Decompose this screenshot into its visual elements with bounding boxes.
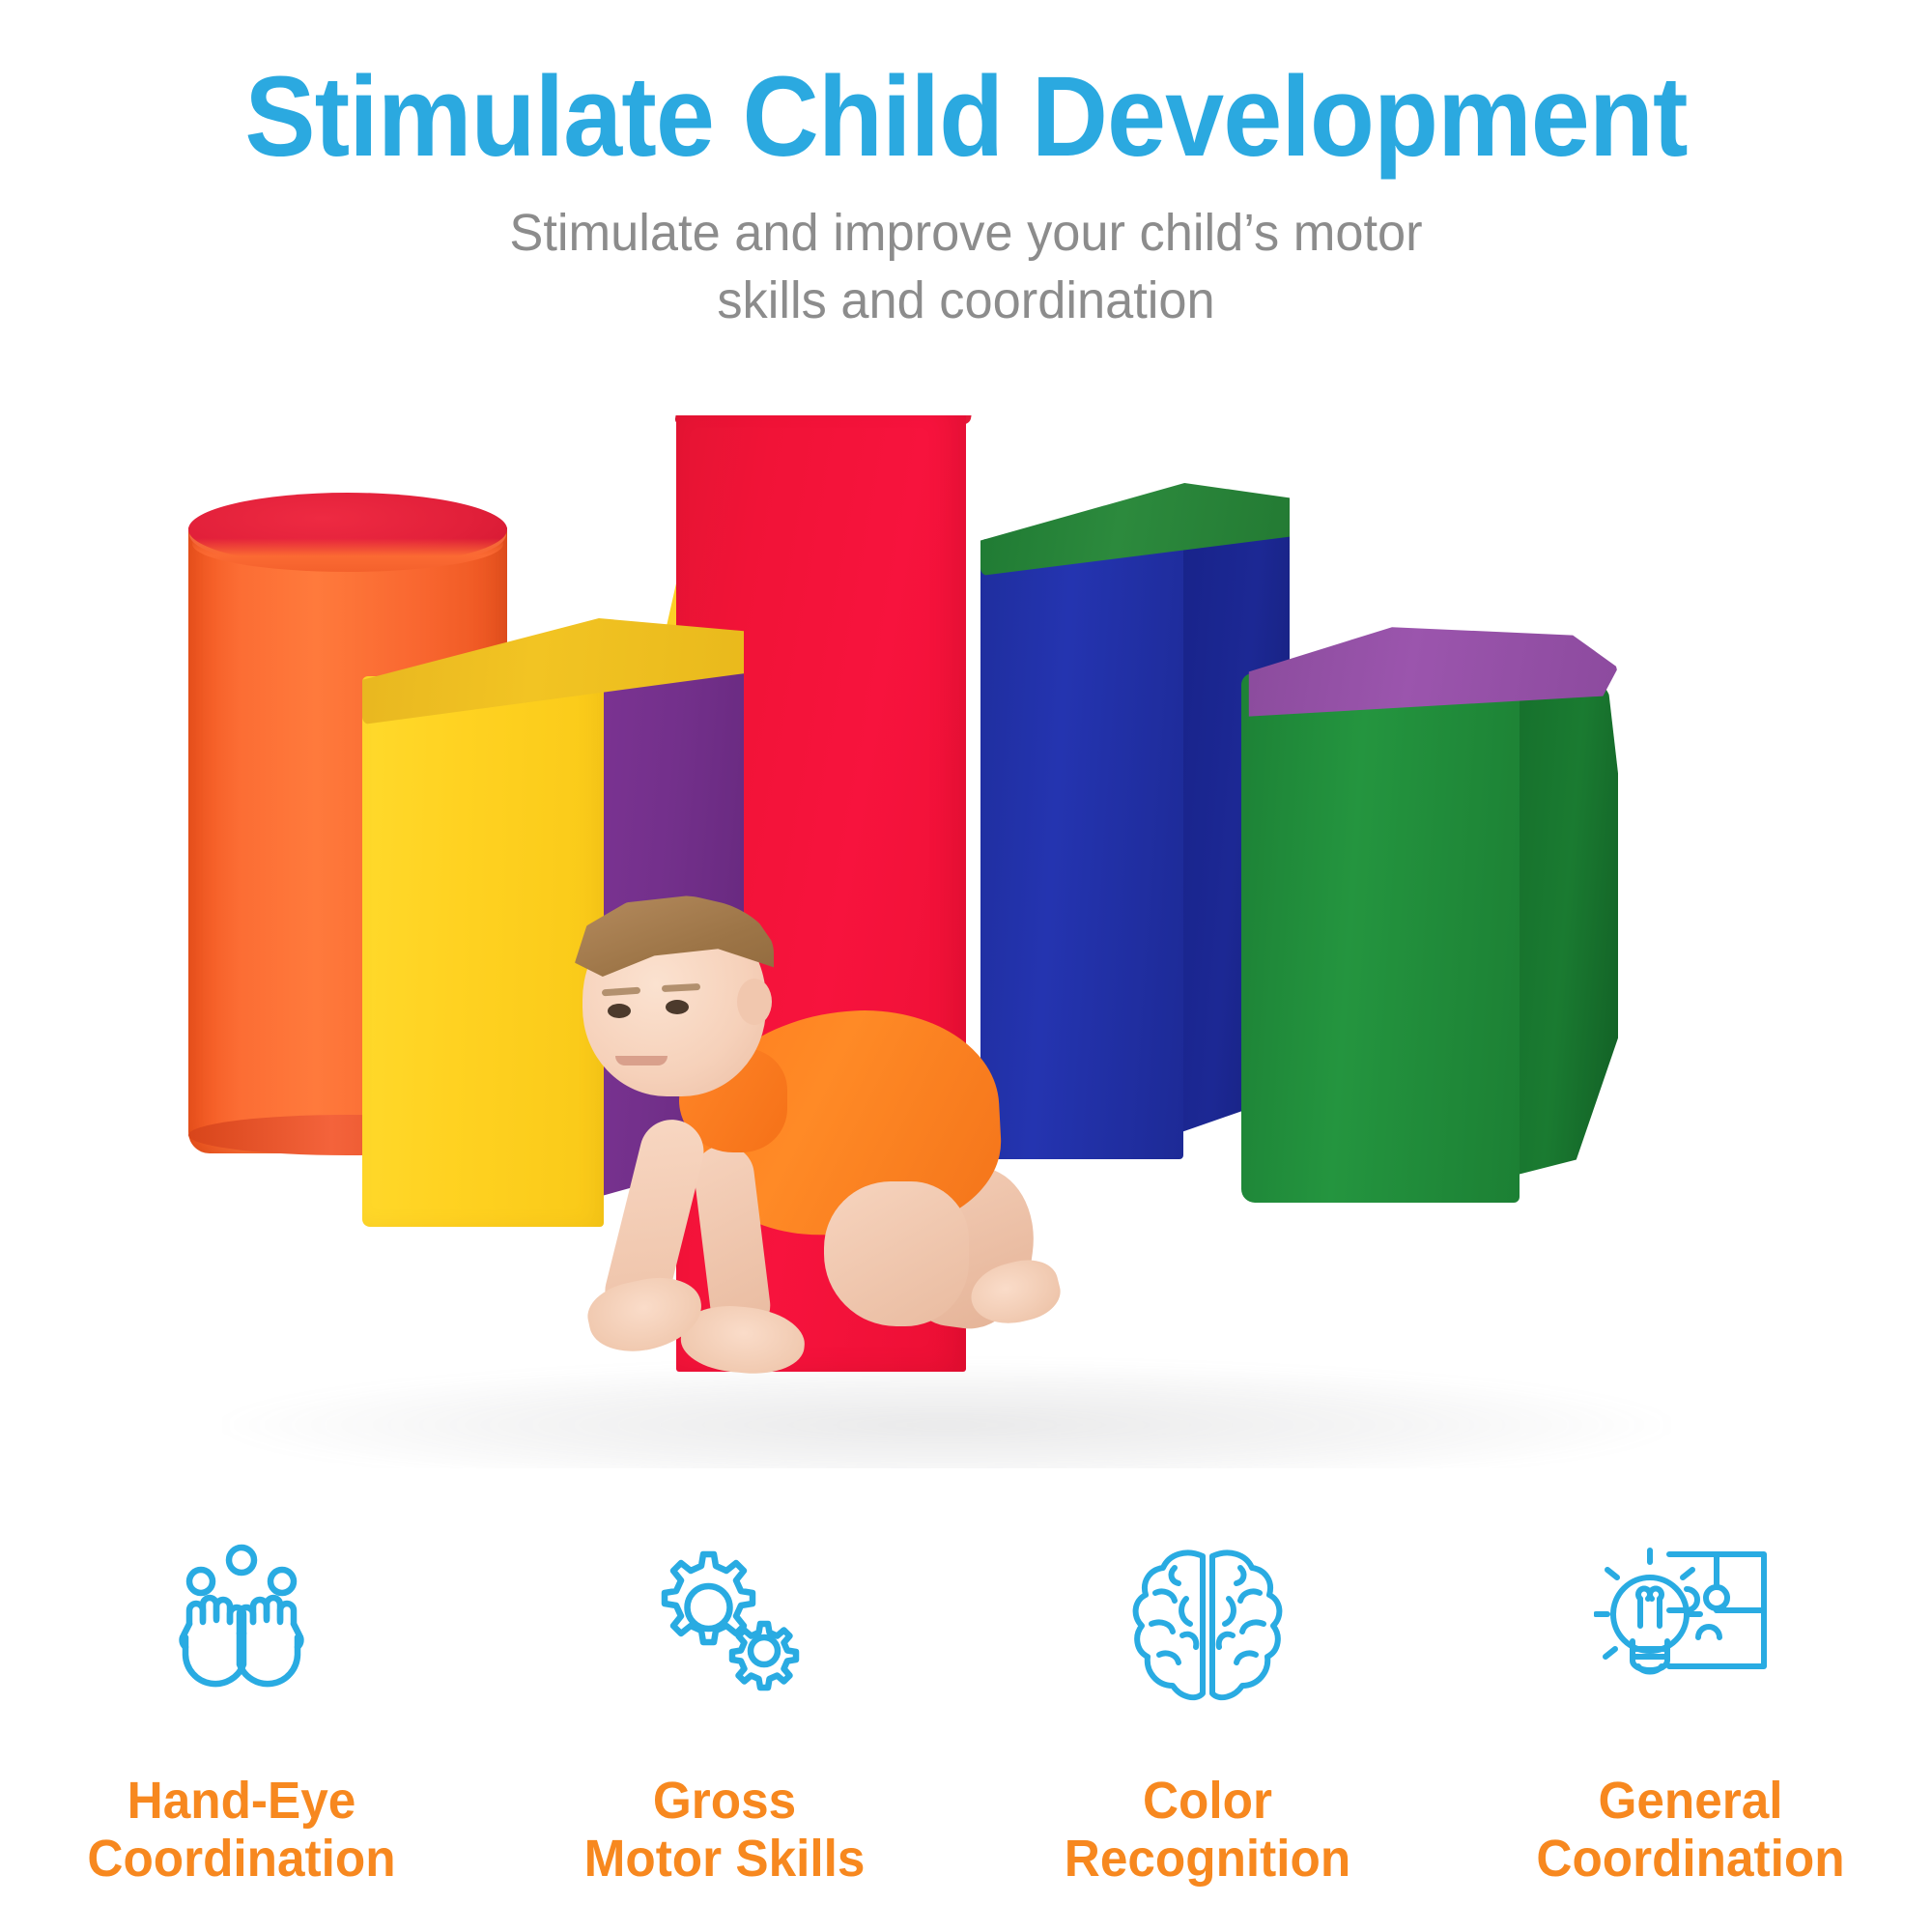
header: Stimulate Child Development Stimulate an… (0, 0, 1932, 334)
subtitle-line-2: skills and coordination (717, 271, 1214, 329)
feature-label-line-1: Hand-Eye (128, 1772, 356, 1830)
cylinder-top-rim (192, 516, 503, 572)
feature-label: General Coordination (1536, 1772, 1844, 1889)
feature-hand-eye-coordination: Hand-Eye Coordination (0, 1536, 483, 1889)
feature-list: Hand-Eye Coordination Gross Motor Skills (0, 1536, 1932, 1922)
feature-label-line-2: Motor Skills (584, 1830, 866, 1888)
brain-icon (1106, 1536, 1309, 1719)
feature-label-line-2: Recognition (1065, 1830, 1350, 1888)
green-block-side (1514, 646, 1618, 1176)
toddler-front-leg (824, 1181, 969, 1326)
feature-label-line-1: Gross (653, 1772, 796, 1830)
feature-label-line-1: Color (1143, 1772, 1272, 1830)
foam-shape-green-quarter-round (1241, 623, 1618, 1203)
infographic-page: Stimulate Child Development Stimulate an… (0, 0, 1932, 1932)
toddler-mouth (615, 1056, 668, 1065)
green-block-front (1241, 673, 1520, 1203)
feature-label-line-1: General (1598, 1772, 1782, 1830)
toddler-eye-left (608, 1004, 631, 1018)
feature-label: Gross Motor Skills (584, 1772, 866, 1889)
feature-label: Hand-Eye Coordination (87, 1772, 395, 1889)
subtitle-line-1: Stimulate and improve your child’s motor (509, 204, 1422, 262)
toddler-eye-right (666, 1000, 689, 1014)
feature-label-line-2: Coordination (1536, 1830, 1844, 1888)
page-subtitle: Stimulate and improve your child’s motor… (29, 174, 1903, 334)
feature-gross-motor-skills: Gross Motor Skills (483, 1536, 966, 1889)
crawling-toddler (565, 903, 1067, 1386)
lightbulb-puzzle-icon (1589, 1536, 1792, 1719)
feature-general-coordination: General Coordination (1449, 1536, 1932, 1889)
feature-label: Color Recognition (1065, 1772, 1350, 1889)
toddler-ear (737, 979, 772, 1025)
feature-color-recognition: Color Recognition (966, 1536, 1449, 1889)
hands-catching-balls-icon (140, 1536, 343, 1719)
feature-label-line-2: Coordination (87, 1830, 395, 1888)
product-photo (0, 415, 1932, 1468)
gears-icon (623, 1536, 826, 1719)
page-title: Stimulate Child Development (68, 0, 1864, 174)
